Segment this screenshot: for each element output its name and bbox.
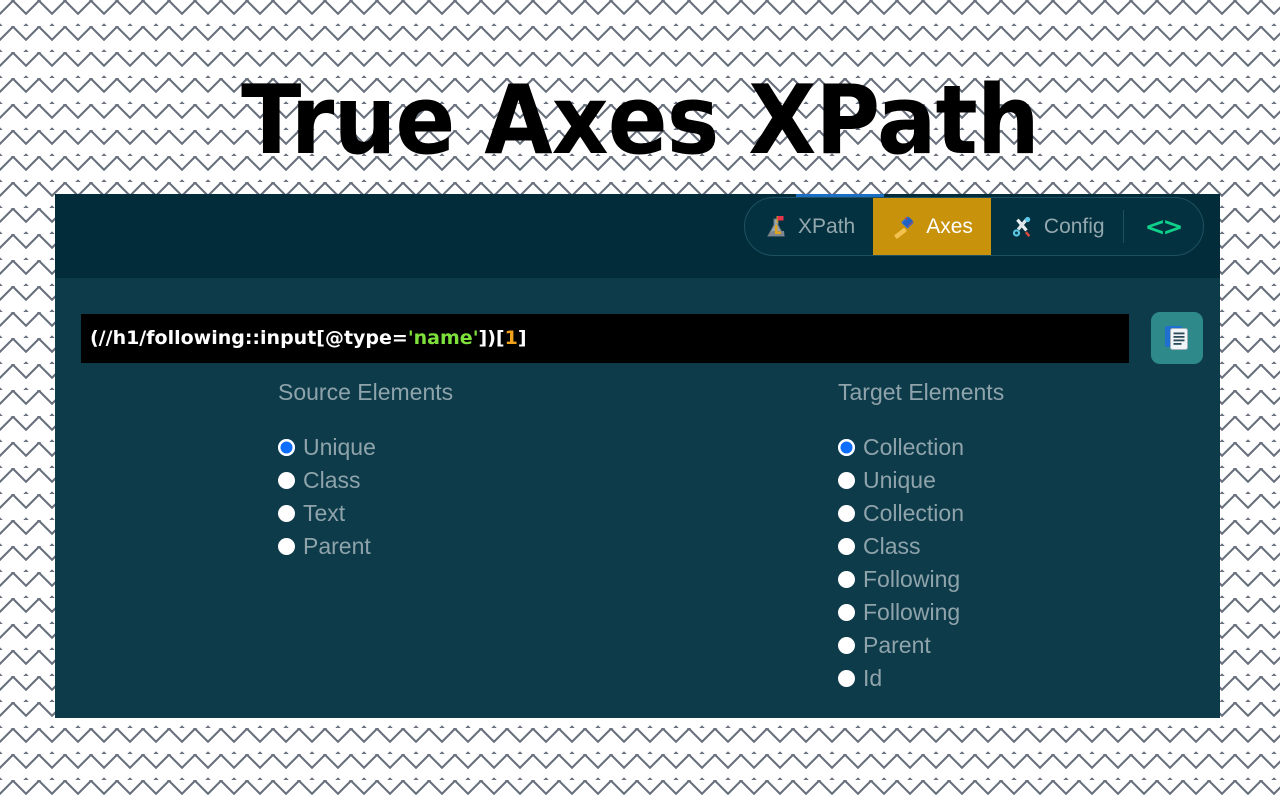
target-option-label: Following	[863, 599, 960, 626]
copy-button[interactable]	[1151, 312, 1203, 364]
target-elements-column: Target Elements Collection Unique Collec…	[838, 379, 1004, 695]
target-option-label: Id	[863, 665, 882, 692]
xpath-token: ])[	[479, 327, 505, 349]
target-option-following-1[interactable]: Following	[838, 563, 1004, 596]
tab-code[interactable]: <>	[1123, 198, 1203, 255]
radio-icon	[278, 538, 295, 555]
page-title: True Axes XPath	[45, 74, 1235, 169]
target-option-parent[interactable]: Parent	[838, 629, 1004, 662]
copy-icon	[1162, 322, 1192, 355]
radio-icon	[838, 571, 855, 588]
tools-icon	[1009, 214, 1035, 240]
source-option-unique[interactable]: Unique	[278, 431, 453, 464]
target-option-label: Unique	[863, 467, 936, 494]
tab-axes[interactable]: Axes	[873, 198, 991, 255]
radio-icon	[838, 439, 855, 456]
source-option-label: Unique	[303, 434, 376, 461]
radio-icon	[838, 637, 855, 654]
tab-bar: XPath Axes	[744, 197, 1204, 256]
panel-header: XPath Axes	[55, 194, 1220, 278]
target-option-label: Parent	[863, 632, 931, 659]
tab-config[interactable]: Config	[991, 198, 1123, 255]
xpath-input[interactable]: (//h1/following::input[@type= 'name' ])[…	[81, 314, 1129, 363]
tab-axes-label: Axes	[926, 215, 973, 239]
target-option-label: Following	[863, 566, 960, 593]
source-elements-title: Source Elements	[278, 379, 453, 406]
tab-xpath-label: XPath	[798, 215, 855, 239]
source-elements-column: Source Elements Unique Class Text Parent	[278, 379, 453, 563]
radio-icon	[838, 505, 855, 522]
radio-icon	[838, 670, 855, 687]
tab-config-label: Config	[1044, 215, 1105, 239]
source-option-label: Parent	[303, 533, 371, 560]
radio-icon	[838, 472, 855, 489]
target-option-following-2[interactable]: Following	[838, 596, 1004, 629]
target-option-unique[interactable]: Unique	[838, 464, 1004, 497]
radio-icon	[838, 604, 855, 621]
radio-icon	[278, 439, 295, 456]
source-option-class[interactable]: Class	[278, 464, 453, 497]
hammer-icon	[891, 214, 917, 240]
source-option-label: Class	[303, 467, 361, 494]
target-option-label: Collection	[863, 434, 964, 461]
xpath-token: (//h1/following::input[@type=	[90, 327, 408, 349]
xpath-token: 'name'	[408, 327, 479, 349]
app-panel: XPath Axes	[55, 194, 1220, 718]
target-option-collection-2[interactable]: Collection	[838, 497, 1004, 530]
target-option-collection-1[interactable]: Collection	[838, 431, 1004, 464]
radio-icon	[278, 472, 295, 489]
target-elements-title: Target Elements	[838, 379, 1004, 406]
target-option-label: Class	[863, 533, 921, 560]
tab-xpath[interactable]: XPath	[745, 198, 873, 255]
flask-icon	[763, 214, 789, 240]
source-option-text[interactable]: Text	[278, 497, 453, 530]
code-icon: <>	[1145, 212, 1181, 241]
target-option-label: Collection	[863, 500, 964, 527]
target-option-class[interactable]: Class	[838, 530, 1004, 563]
radio-icon	[278, 505, 295, 522]
source-option-parent[interactable]: Parent	[278, 530, 453, 563]
target-option-id[interactable]: Id	[838, 662, 1004, 695]
source-option-label: Text	[303, 500, 345, 527]
radio-icon	[838, 538, 855, 555]
xpath-token: 1	[505, 327, 518, 349]
xpath-token: ]	[518, 327, 527, 349]
xpath-row: (//h1/following::input[@type= 'name' ])[…	[81, 312, 1203, 364]
